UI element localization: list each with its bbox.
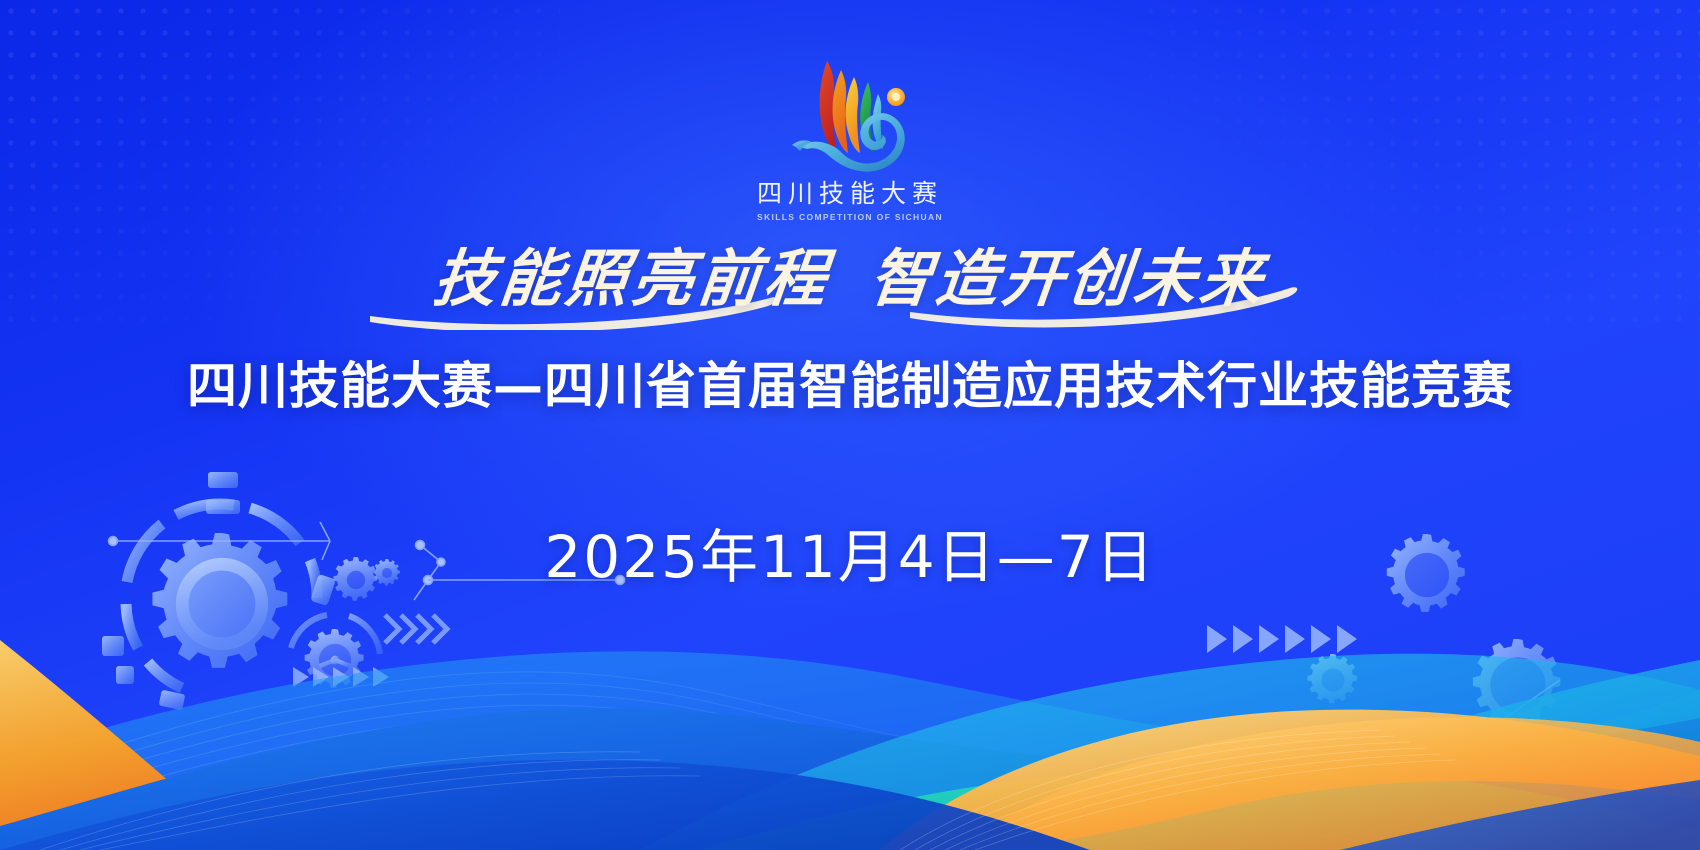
sichuan-skills-phoenix-logo-icon (770, 52, 930, 177)
logo-chinese-name: 四川技能大赛 (757, 181, 943, 206)
event-poster: 四川技能大赛 SKILLS COMPETITION OF SICHUAN 技能照… (0, 0, 1700, 850)
logo-lockup: 四川技能大赛 SKILLS COMPETITION OF SICHUAN (757, 52, 943, 222)
page-title: 四川技能大赛—四川省首届智能制造应用技术行业技能竞赛 (187, 346, 1513, 418)
poster-content: 四川技能大赛 SKILLS COMPETITION OF SICHUAN 技能照… (0, 0, 1700, 850)
slogan-text: 技能照亮前程智造开创未来 (347, 246, 1354, 311)
logo-english-name: SKILLS COMPETITION OF SICHUAN (757, 213, 943, 222)
event-date: 2025年11月4日—7日 (544, 510, 1155, 594)
slogan-part-1: 技能照亮前程 (430, 242, 834, 315)
slogan-calligraphy: 技能照亮前程智造开创未来 (350, 240, 1350, 330)
slogan-part-2: 智造开创未来 (866, 242, 1270, 315)
